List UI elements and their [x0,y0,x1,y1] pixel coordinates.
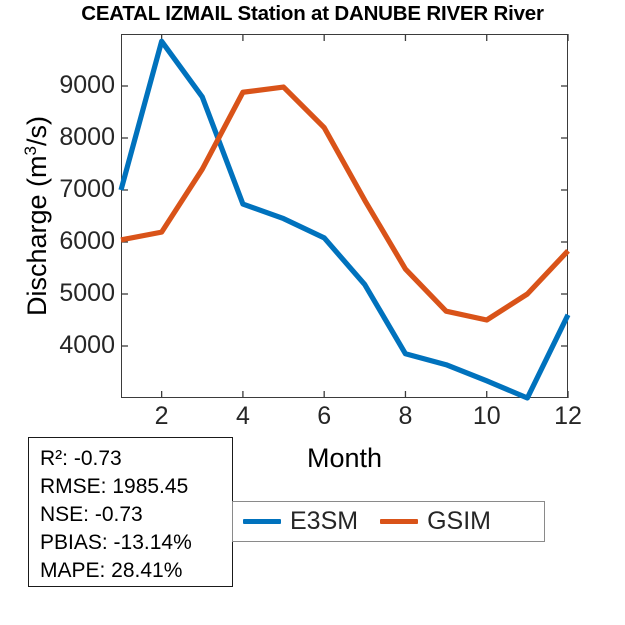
stat-r2: R²: -0.73 [40,445,232,473]
x-tick-label: 2 [132,404,192,429]
stat-mape: MAPE: 28.41% [40,557,232,585]
legend-item-e3sm[interactable]: E3SM [243,509,358,534]
y-axis-title-suffix: /s) [22,116,52,146]
legend-label: E3SM [290,509,358,534]
axis-ticks [121,34,568,398]
x-tick-label: 12 [538,404,598,429]
plot-lines [121,34,568,398]
legend-label: GSIM [427,509,491,534]
stat-pbias: PBIAS: -13.14% [40,529,232,557]
y-axis-title-prefix: Discharge (m [22,155,52,316]
stat-rmse: RMSE: 1985.45 [40,473,232,501]
series-line-gsim [121,87,568,320]
legend-item-gsim[interactable]: GSIM [380,509,491,534]
y-axis-title: Discharge (m3/s) [21,51,53,381]
x-tick-label: 10 [457,404,517,429]
legend-color-swatch [243,519,281,524]
series-line-e3sm [121,41,568,398]
statistics-box: R²: -0.73 RMSE: 1985.45 NSE: -0.73 PBIAS… [28,437,233,587]
legend-color-swatch [380,519,418,524]
figure-canvas: CEATAL IZMAIL Station at DANUBE RIVER Ri… [0,0,625,625]
x-tick-label: 4 [213,404,273,429]
chart-legend[interactable]: E3SM GSIM [232,501,545,542]
y-axis-title-exponent: 3 [21,146,40,155]
x-tick-label: 8 [375,404,435,429]
stat-nse: NSE: -0.73 [40,501,232,529]
x-tick-label: 6 [294,404,354,429]
